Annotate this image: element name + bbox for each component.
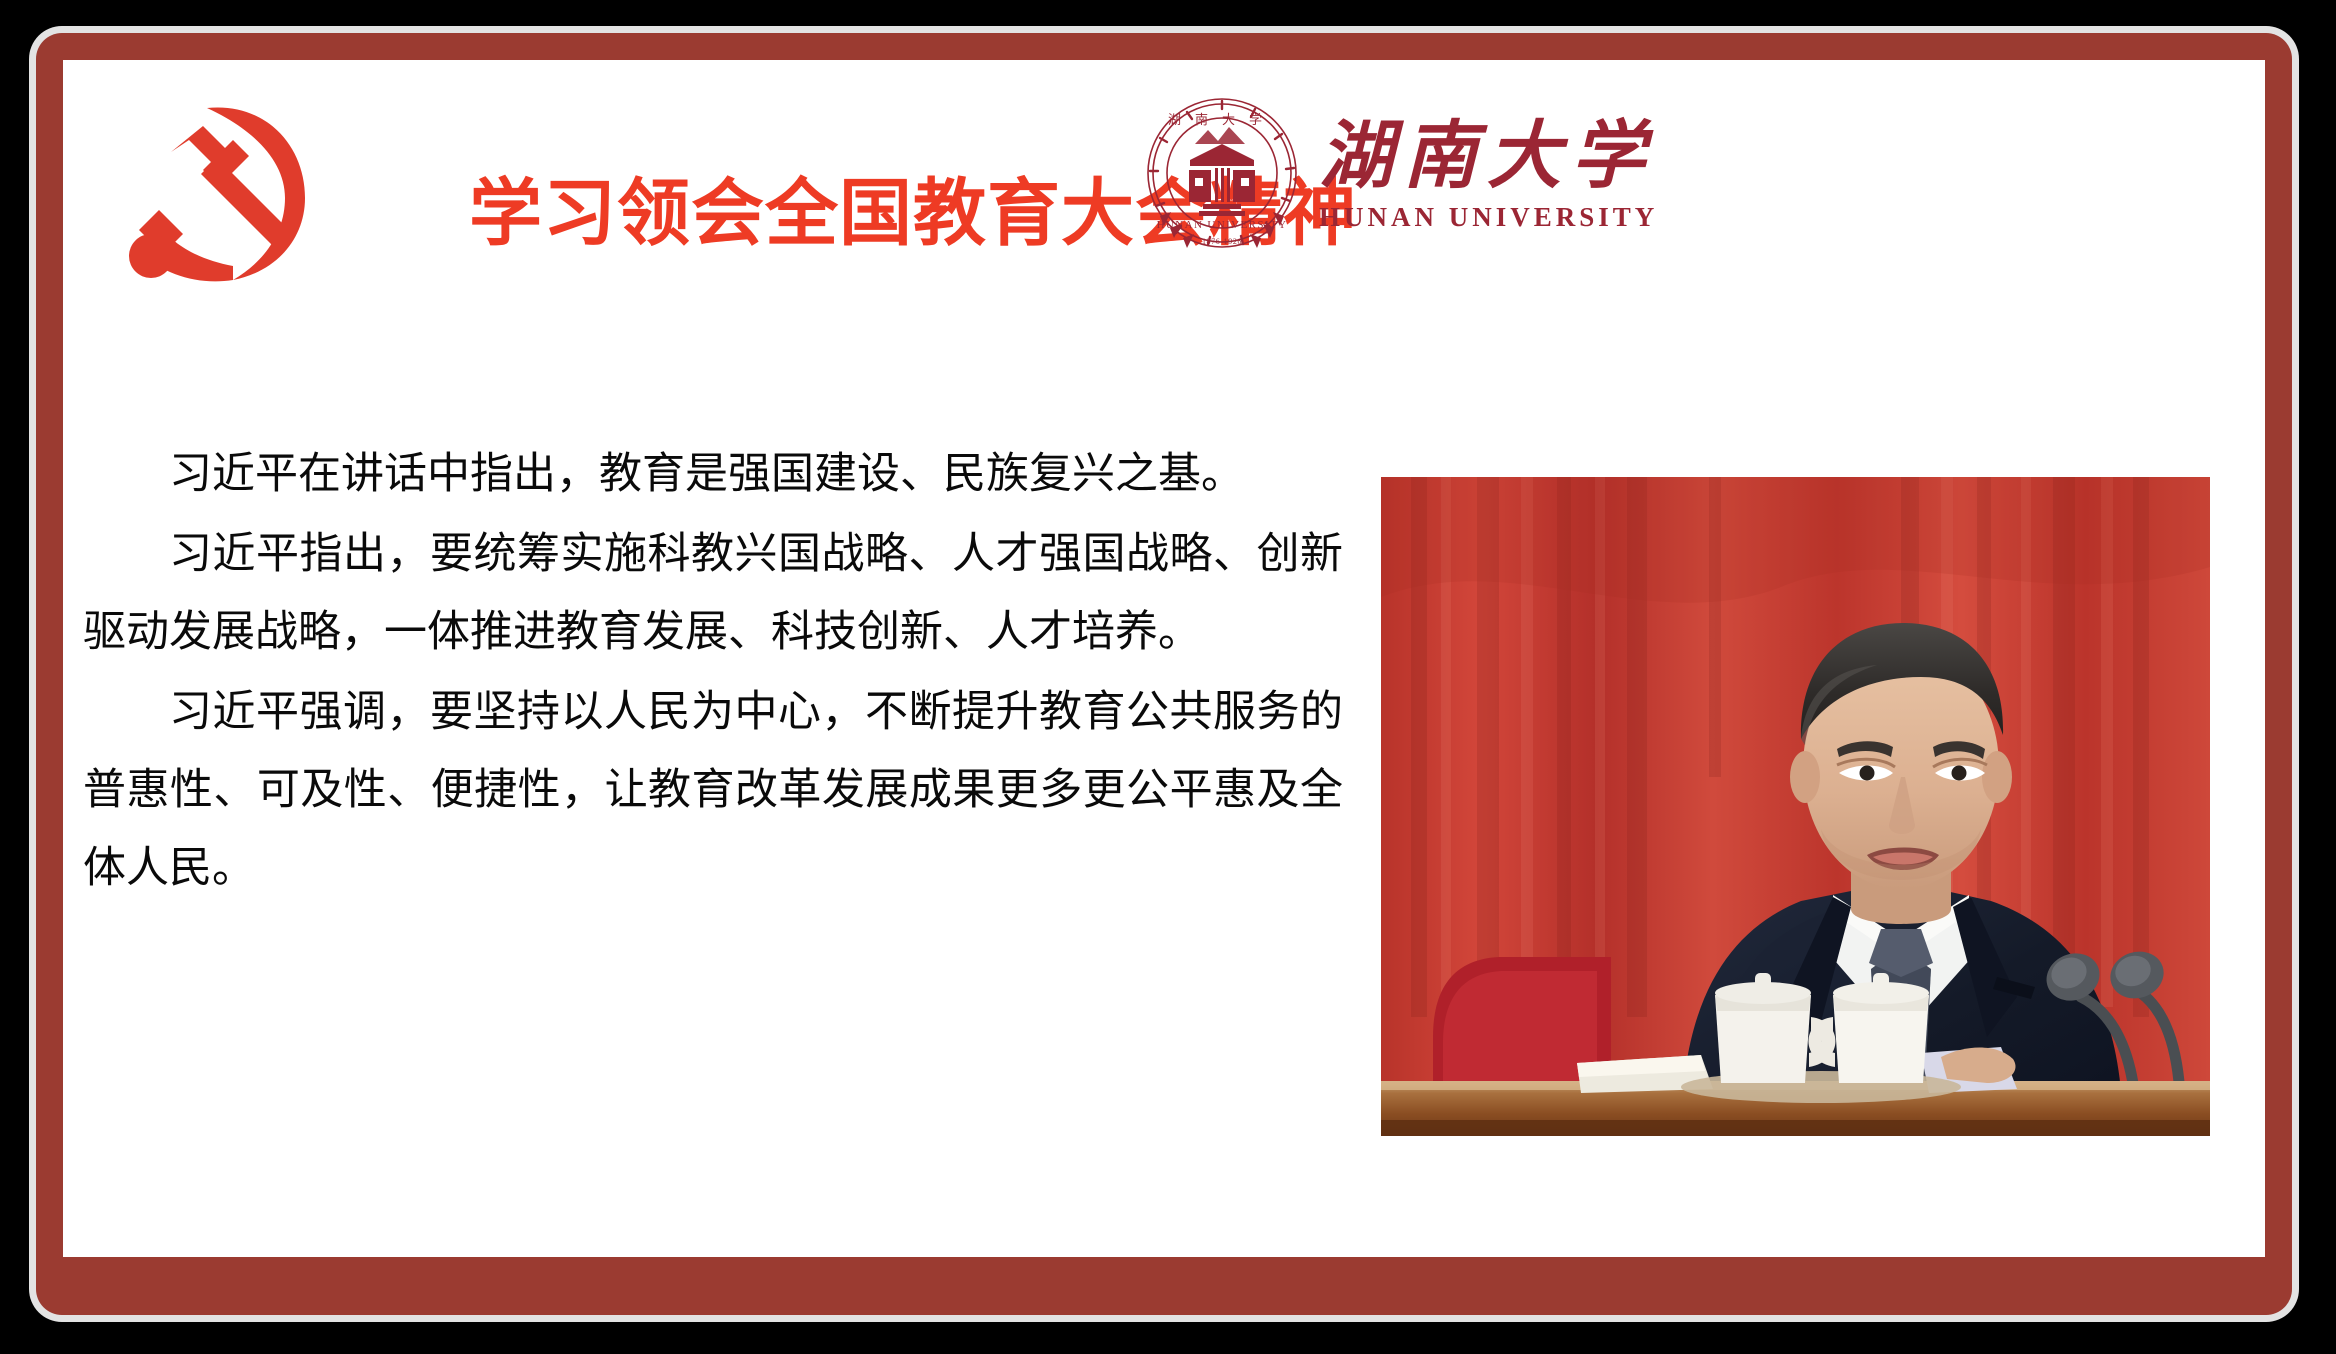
hunan-university-logo: HUNAN UNIVERSITY 1876-1926 湖南大学 湖南大学 HUN… — [1145, 80, 1745, 265]
paragraph-3: 习近平强调，要坚持以人民为中心，不断提升教育公共服务的普惠性、可及性、便捷性，让… — [83, 673, 1343, 907]
paragraph-2: 习近平指出，要统筹实施科教兴国战略、人才强国战略、创新驱动发展战略，一体推进教育… — [83, 515, 1343, 671]
slide-content-panel: 学习领会全国教育大会精神 — [63, 60, 2265, 1257]
paragraph-1: 习近平在讲话中指出，教育是强国建设、民族复兴之基。 — [83, 435, 1343, 513]
hunan-university-seal-icon: HUNAN UNIVERSITY 1876-1926 湖南大学 — [1145, 96, 1299, 250]
speech-photo — [1381, 477, 2210, 1136]
slide-header: 学习领会全国教育大会精神 — [63, 60, 2265, 310]
seal-chinese-text: 湖南大学 — [1168, 112, 1276, 128]
body-text-column: 习近平在讲话中指出，教育是强国建设、民族复兴之基。 习近平指出，要统筹实施科教兴… — [83, 435, 1343, 909]
hammer-and-sickle-icon — [115, 100, 315, 285]
seal-english-text: HUNAN UNIVERSITY — [1157, 219, 1288, 231]
seal-years-text: 1876-1926 — [1202, 237, 1242, 246]
university-name-cn: 湖南大学 — [1319, 113, 1655, 199]
slide-frame: 学习领会全国教育大会精神 — [36, 33, 2292, 1315]
university-wordmark: 湖南大学 HUNAN UNIVERSITY — [1319, 113, 1658, 233]
university-name-en: HUNAN UNIVERSITY — [1319, 201, 1658, 233]
